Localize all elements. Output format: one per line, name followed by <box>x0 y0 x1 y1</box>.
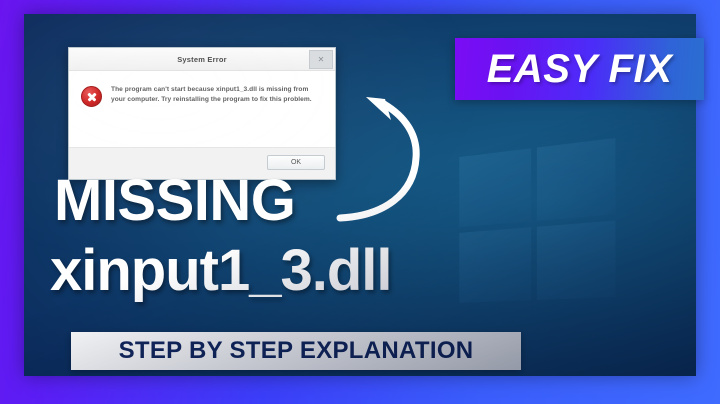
close-icon[interactable]: ✕ <box>309 50 333 69</box>
easy-fix-badge: EASY FIX <box>455 38 704 100</box>
windows-logo-pane-top-right <box>537 138 616 221</box>
sub-banner: STEP BY STEP EXPLANATION <box>71 332 521 370</box>
headline-missing: MISSING <box>54 172 295 230</box>
windows-logo-watermark <box>459 138 615 303</box>
dialog-titlebar: System Error ✕ <box>69 48 335 71</box>
windows-logo-pane-bottom-right <box>537 221 616 300</box>
easy-fix-label: EASY FIX <box>487 47 673 92</box>
headline-filename: xinput1_3.dll <box>50 242 392 300</box>
dialog-body: The program can't start because xinput1_… <box>69 71 335 148</box>
dialog-message: The program can't start because xinput1_… <box>111 85 323 105</box>
windows-logo-pane-bottom-left <box>459 227 531 303</box>
windows-logo-pane-top-left <box>459 148 531 227</box>
system-error-dialog: System Error ✕ The program can't start b… <box>68 47 336 180</box>
dialog-title: System Error <box>177 55 227 64</box>
error-x-icon <box>81 86 102 107</box>
sub-banner-label: STEP BY STEP EXPLANATION <box>119 337 474 365</box>
curved-arrow-up-left-icon <box>322 90 442 226</box>
video-thumbnail: System Error ✕ The program can't start b… <box>0 0 720 404</box>
